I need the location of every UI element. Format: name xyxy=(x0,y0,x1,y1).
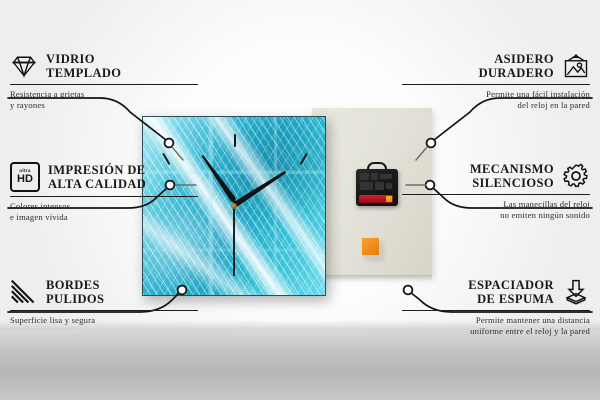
diagonal-stripes-icon xyxy=(10,278,38,306)
infographic-canvas: VIDRIO TEMPLADO Resistencia a grietas y … xyxy=(0,0,600,400)
callout-divider xyxy=(10,196,198,197)
diamond-icon xyxy=(10,52,38,80)
callout-subtitle-line2: del reloj en la pared xyxy=(402,100,590,111)
callout-title: VIDRIO TEMPLADO xyxy=(46,52,121,80)
gear-icon xyxy=(562,162,590,190)
clock-center-cap xyxy=(231,203,237,209)
callout-header: ESPACIADOR DE ESPUMA xyxy=(402,278,590,306)
floor-band xyxy=(0,330,600,400)
callout-subtitle-line1: Permite una fácil instalación xyxy=(402,89,590,100)
callout-subtitle-line1: Resistencia a grietas xyxy=(10,89,198,100)
clock-second-hand xyxy=(233,198,235,276)
hanging-picture-frame-icon xyxy=(562,52,590,80)
callout-divider xyxy=(402,194,590,195)
callout-title: MECANISMO SILENCIOSO xyxy=(470,162,554,190)
callout-divider xyxy=(402,84,590,85)
callout-subtitle-line2: no emiten ningún sonido xyxy=(402,210,590,221)
arrow-onto-pad-icon xyxy=(562,278,590,306)
callout-title: ESPACIADOR DE ESPUMA xyxy=(468,278,554,306)
callout-vidrio-templado: VIDRIO TEMPLADO Resistencia a grietas y … xyxy=(10,52,198,111)
callout-subtitle-line1: Superficie lisa y segura xyxy=(10,315,198,326)
callout-mecanismo-silencioso: MECANISMO SILENCIOSO Las manecillas del … xyxy=(402,162,590,221)
ultra-hd-icon-large-text: HD xyxy=(17,174,33,185)
callout-header: MECANISMO SILENCIOSO xyxy=(402,162,590,190)
callout-espaciador-de-espuma: ESPACIADOR DE ESPUMA Permite mantener un… xyxy=(402,278,590,337)
callout-divider xyxy=(402,310,590,311)
callout-title: ASIDERO DURADERO xyxy=(479,52,554,80)
callout-header: VIDRIO TEMPLADO xyxy=(10,52,198,80)
callout-divider xyxy=(10,310,198,311)
callout-divider xyxy=(10,84,198,85)
callout-subtitle-line1: Permite mantener una distancia xyxy=(402,315,590,326)
callout-header: ASIDERO DURADERO xyxy=(402,52,590,80)
callout-asidero-duradero: ASIDERO DURADERO Permite una fácil insta… xyxy=(402,52,590,111)
callout-subtitle-line1: Las manecillas del reloj xyxy=(402,199,590,210)
callout-title: BORDES PULIDOS xyxy=(46,278,104,306)
callout-header: ultra HD IMPRESIÓN DE ALTA CALIDAD xyxy=(10,162,198,192)
foam-spacer-pad xyxy=(362,238,379,255)
callout-title: IMPRESIÓN DE ALTA CALIDAD xyxy=(48,163,146,191)
callout-impresion-alta-calidad: ultra HD IMPRESIÓN DE ALTA CALIDAD Color… xyxy=(10,162,198,223)
callout-subtitle-line1: Colores intensos xyxy=(10,201,198,212)
callout-subtitle-line2: uniforme entre el reloj y la pared xyxy=(402,326,590,337)
clock-mechanism xyxy=(356,162,398,206)
callout-subtitle-line2: y rayones xyxy=(10,100,198,111)
callout-bordes-pulidos: BORDES PULIDOS Superficie lisa y segura xyxy=(10,278,198,326)
callout-subtitle-line2: e imagen vívida xyxy=(10,212,198,223)
mechanism-body xyxy=(356,169,398,206)
ultra-hd-icon: ultra HD xyxy=(10,162,40,192)
callout-header: BORDES PULIDOS xyxy=(10,278,198,306)
mechanism-battery xyxy=(359,195,393,203)
